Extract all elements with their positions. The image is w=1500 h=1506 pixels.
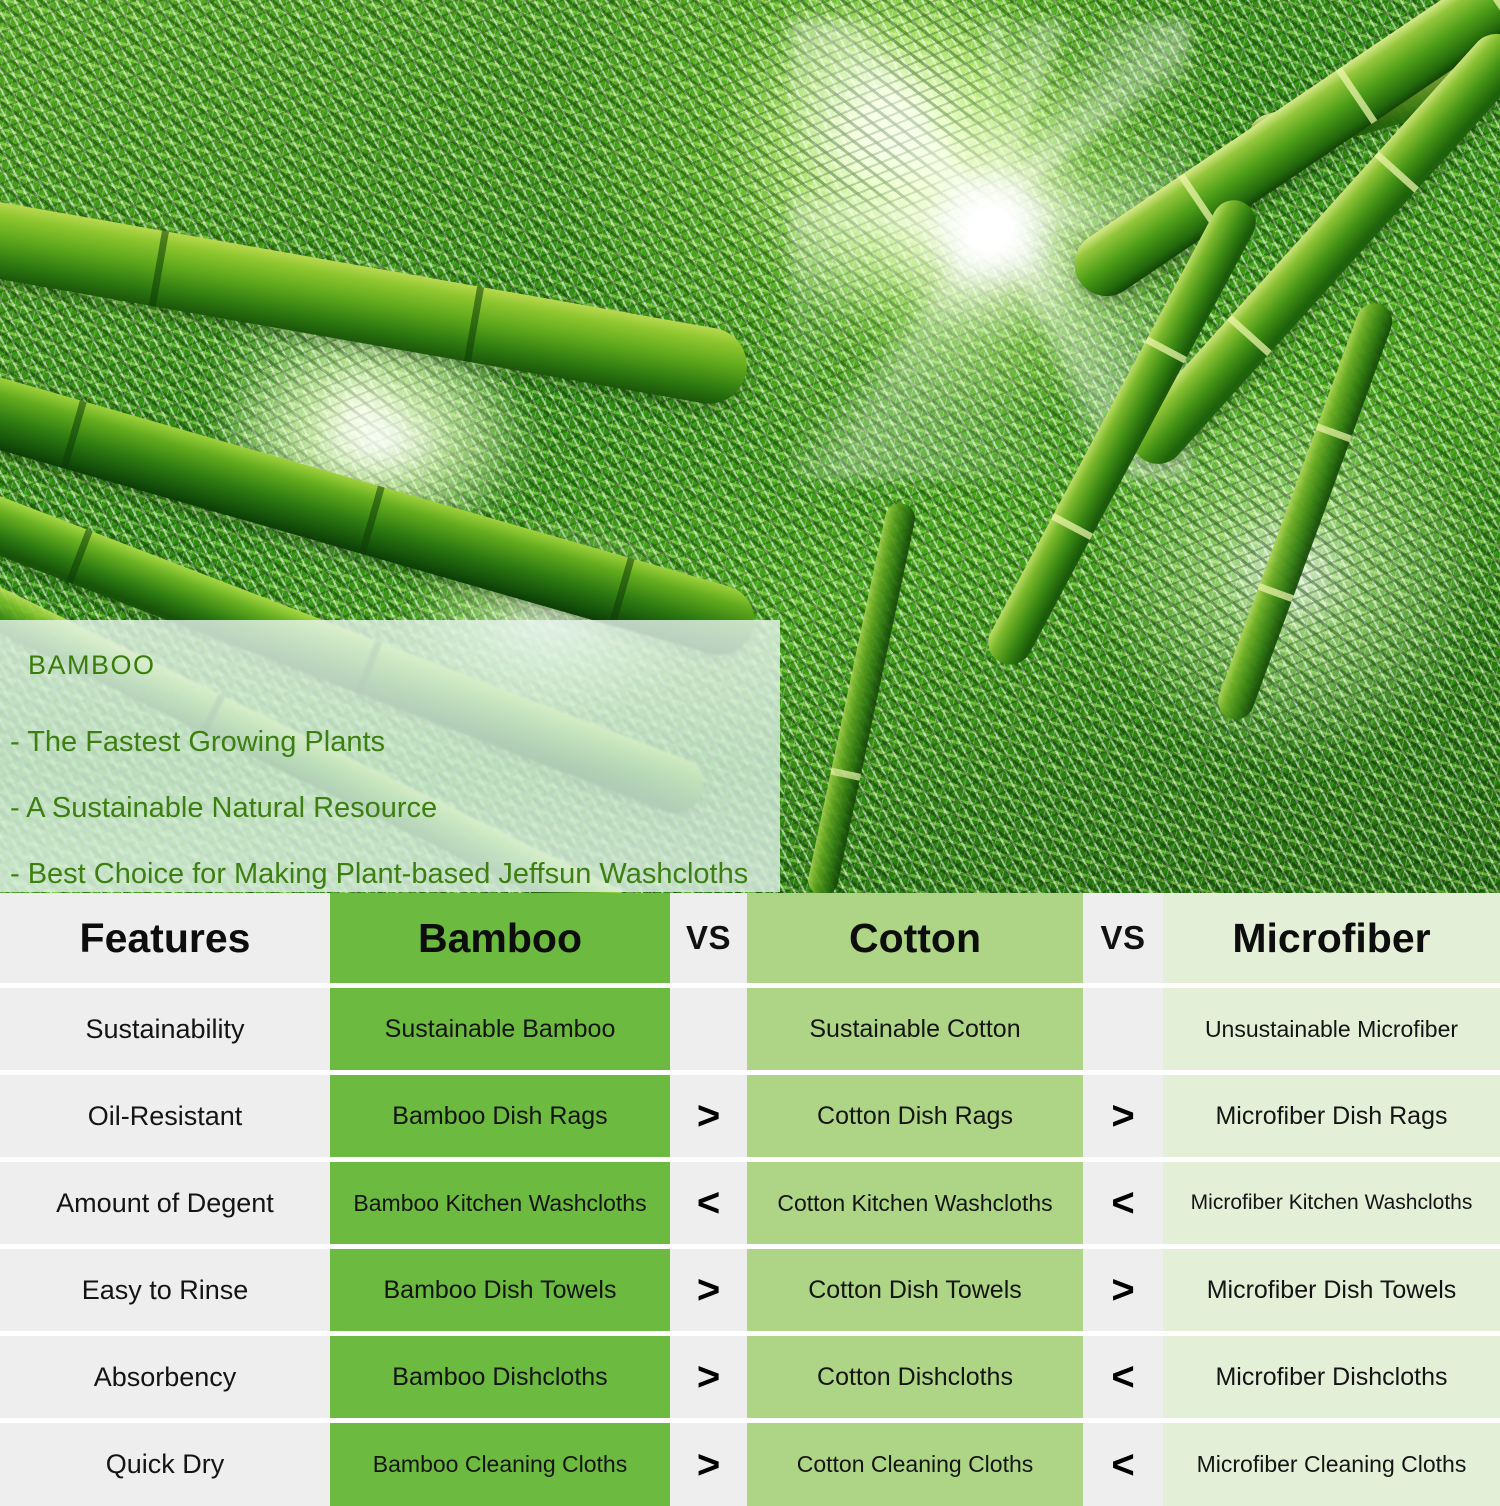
feature-label: Amount of Degent (56, 1188, 274, 1219)
row-cotton-cell: Sustainable Cotton (747, 988, 1083, 1070)
vs-label: VS (686, 919, 731, 957)
comparison-operator: > (697, 1270, 720, 1310)
microfiber-value: Microfiber Dishcloths (1209, 1363, 1453, 1392)
row-operator-2: > (1083, 1075, 1163, 1157)
row-operator-1: > (670, 1336, 747, 1418)
row-feature-cell: Sustainability (0, 988, 330, 1070)
comparison-operator: > (697, 1357, 720, 1397)
table-row: Absorbency Bamboo Dishcloths > Cotton Di… (0, 1336, 1500, 1418)
table-row: Easy to Rinse Bamboo Dish Towels > Cotto… (0, 1249, 1500, 1331)
row-microfiber-cell: Microfiber Cleaning Cloths (1163, 1423, 1500, 1506)
row-operator-1: > (670, 1249, 747, 1331)
vs-label: VS (1100, 919, 1145, 957)
row-bamboo-cell: Sustainable Bamboo (330, 988, 670, 1070)
table-row: Amount of Degent Bamboo Kitchen Washclot… (0, 1162, 1500, 1244)
cotton-value: Cotton Dish Towels (802, 1276, 1028, 1305)
feature-label: Oil-Resistant (88, 1101, 243, 1132)
bamboo-info-overlay: BAMBOO - The Fastest Growing Plants - A … (0, 620, 780, 892)
comparison-operator: < (697, 1183, 720, 1223)
table-header-row: Features Bamboo VS Cotton VS Microfiber (0, 893, 1500, 983)
comparison-operator: > (1111, 1096, 1134, 1136)
header-cell-microfiber: Microfiber (1163, 893, 1500, 983)
row-microfiber-cell: Unsustainable Microfiber (1163, 988, 1500, 1070)
row-operator-2: < (1083, 1162, 1163, 1244)
header-cell-bamboo: Bamboo (330, 893, 670, 983)
overlay-title: BAMBOO (28, 650, 156, 681)
cotton-value: Sustainable Cotton (803, 1015, 1026, 1044)
feature-label: Quick Dry (106, 1449, 225, 1480)
product-infographic: BAMBOO - The Fastest Growing Plants - A … (0, 0, 1500, 1500)
row-bamboo-cell: Bamboo Dishcloths (330, 1336, 670, 1418)
table-row: Quick Dry Bamboo Cleaning Cloths > Cotto… (0, 1423, 1500, 1506)
feature-label: Easy to Rinse (82, 1275, 249, 1306)
row-cotton-cell: Cotton Cleaning Cloths (747, 1423, 1083, 1506)
bamboo-value: Bamboo Kitchen Washcloths (347, 1190, 652, 1217)
row-microfiber-cell: Microfiber Dishcloths (1163, 1336, 1500, 1418)
row-operator-2: < (1083, 1423, 1163, 1506)
microfiber-value: Microfiber Dish Towels (1201, 1276, 1463, 1305)
row-operator-2: > (1083, 1249, 1163, 1331)
bamboo-value: Bamboo Dishcloths (386, 1363, 613, 1392)
header-label: Microfiber (1232, 915, 1430, 962)
row-feature-cell: Oil-Resistant (0, 1075, 330, 1157)
overlay-bullet: - Best Choice for Making Plant-based Jef… (4, 860, 780, 889)
row-bamboo-cell: Bamboo Dish Towels (330, 1249, 670, 1331)
microfiber-value: Microfiber Dish Rags (1209, 1102, 1453, 1131)
header-label: Bamboo (418, 915, 582, 962)
comparison-operator: > (697, 1096, 720, 1136)
cotton-value: Cotton Dishcloths (811, 1363, 1019, 1392)
row-operator-1: > (670, 1075, 747, 1157)
row-operator-1 (670, 988, 747, 1070)
comparison-operator: < (1111, 1183, 1134, 1223)
cotton-value: Cotton Kitchen Washcloths (771, 1190, 1058, 1217)
comparison-operator: > (697, 1445, 720, 1485)
header-cell-features: Features (0, 893, 330, 983)
bamboo-value: Bamboo Cleaning Cloths (367, 1451, 633, 1478)
row-cotton-cell: Cotton Dish Towels (747, 1249, 1083, 1331)
feature-label: Absorbency (94, 1362, 237, 1393)
feature-label: Sustainability (85, 1014, 244, 1045)
row-operator-2 (1083, 988, 1163, 1070)
microfiber-value: Microfiber Kitchen Washcloths (1185, 1191, 1479, 1215)
row-operator-1: < (670, 1162, 747, 1244)
microfiber-value: Microfiber Cleaning Cloths (1191, 1451, 1473, 1478)
bamboo-value: Sustainable Bamboo (379, 1015, 622, 1044)
comparison-operator: < (1111, 1357, 1134, 1397)
table-row: Oil-Resistant Bamboo Dish Rags > Cotton … (0, 1075, 1500, 1157)
overlay-bullet: - A Sustainable Natural Resource (4, 794, 780, 823)
row-microfiber-cell: Microfiber Kitchen Washcloths (1163, 1162, 1500, 1244)
row-feature-cell: Absorbency (0, 1336, 330, 1418)
row-feature-cell: Amount of Degent (0, 1162, 330, 1244)
header-cell-cotton: Cotton (747, 893, 1083, 983)
row-microfiber-cell: Microfiber Dish Towels (1163, 1249, 1500, 1331)
row-bamboo-cell: Bamboo Dish Rags (330, 1075, 670, 1157)
header-cell-vs-1: VS (670, 893, 747, 983)
row-cotton-cell: Cotton Dish Rags (747, 1075, 1083, 1157)
row-cotton-cell: Cotton Kitchen Washcloths (747, 1162, 1083, 1244)
header-label: Cotton (849, 915, 981, 962)
row-feature-cell: Easy to Rinse (0, 1249, 330, 1331)
table-row: Sustainability Sustainable Bamboo Sustai… (0, 988, 1500, 1070)
overlay-bullet-list: - The Fastest Growing Plants - A Sustain… (4, 728, 780, 895)
comparison-operator: < (1111, 1445, 1134, 1485)
row-bamboo-cell: Bamboo Cleaning Cloths (330, 1423, 670, 1506)
row-operator-1: > (670, 1423, 747, 1506)
row-operator-2: < (1083, 1336, 1163, 1418)
bamboo-value: Bamboo Dish Towels (378, 1276, 623, 1305)
comparison-operator: > (1111, 1270, 1134, 1310)
row-cotton-cell: Cotton Dishcloths (747, 1336, 1083, 1418)
header-cell-vs-2: VS (1083, 893, 1163, 983)
header-label: Features (80, 915, 251, 962)
microfiber-value: Unsustainable Microfiber (1199, 1016, 1464, 1043)
row-bamboo-cell: Bamboo Kitchen Washcloths (330, 1162, 670, 1244)
bamboo-value: Bamboo Dish Rags (386, 1102, 613, 1131)
row-feature-cell: Quick Dry (0, 1423, 330, 1506)
cotton-value: Cotton Cleaning Cloths (791, 1451, 1040, 1478)
comparison-table: Features Bamboo VS Cotton VS Microfiber … (0, 893, 1500, 1500)
bamboo-forest-photo: BAMBOO - The Fastest Growing Plants - A … (0, 0, 1500, 895)
cotton-value: Cotton Dish Rags (811, 1102, 1019, 1131)
row-microfiber-cell: Microfiber Dish Rags (1163, 1075, 1500, 1157)
overlay-bullet: - The Fastest Growing Plants (4, 728, 780, 757)
